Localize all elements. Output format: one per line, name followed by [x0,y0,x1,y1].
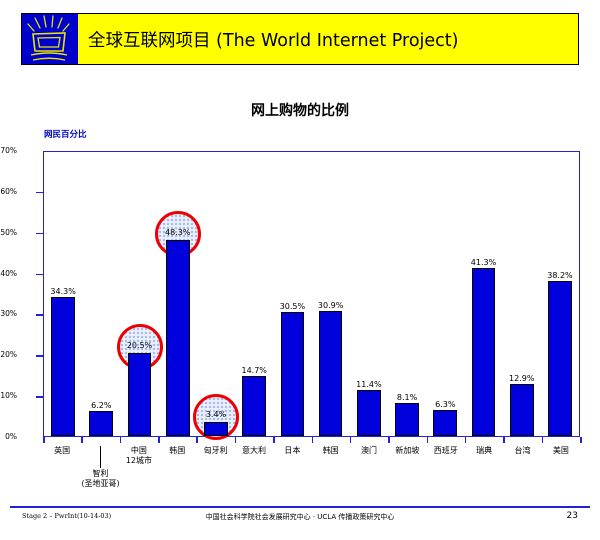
bar-slot: 38.2% [541,152,579,436]
x-axis-category-label: 西班牙 [427,446,465,506]
bar[interactable]: 12.9% [510,384,534,436]
bar-value-label: 30.9% [318,301,343,310]
x-axis-category-label: 新加坡 [388,446,426,506]
bar-slot: 6.2% [82,152,120,436]
y-tick-mark [36,233,43,235]
y-tick-mark [36,396,43,398]
bar-value-label: 48.3% [165,228,190,237]
banner-title: 全球互联网项目 (The World Internet Project) [88,27,458,52]
x-axis-label-line: 韩国 [312,446,350,456]
y-tick-mark [36,274,43,276]
x-axis-label-line: 智利 [81,469,119,479]
y-tick-mark [36,355,43,357]
x-axis-label-line: 美国 [542,446,580,456]
bar-value-label: 11.4% [356,380,381,389]
bar-value-label: 3.4% [206,410,226,419]
x-tick-mark [120,437,122,443]
x-axis-category-label: 意大利 [235,446,273,506]
x-axis-category-label: 匈牙利 [196,446,234,506]
x-axis-label-line: 12城市 [120,456,158,466]
bar[interactable]: 38.2% [548,281,572,436]
bar-series: 34.3%6.2%20.5%48.3%3.4%14.7%30.5%30.9%11… [44,152,579,436]
x-tick-mark [43,437,45,443]
bar-value-label: 8.1% [397,393,417,402]
bar-value-label: 41.3% [471,258,496,267]
x-axis-label-line: 新加坡 [388,446,426,456]
bar[interactable]: 11.4% [357,390,381,436]
y-tick-label: 40% [0,269,17,278]
chart-title: 网上购物的比例 [0,100,600,120]
x-tick-mark [427,437,429,443]
bar-slot: 14.7% [235,152,273,436]
bar-slot: 12.9% [503,152,541,436]
footer-divider [10,506,590,508]
y-tick-label: 0% [5,432,17,441]
x-tick-mark [580,437,582,443]
y-tick-label: 30% [0,309,17,318]
x-axis-category-label: 澳门 [350,446,388,506]
x-axis-category-label: 美国 [542,446,580,506]
x-axis-label-line: (圣地亚哥) [81,479,119,489]
footer-attribution: 中国社会科学院社会发展研究中心 · UCLA 传播政策研究中心 [0,512,600,522]
x-axis-labels: 英国智利(圣地亚哥)中国12城市韩国匈牙利意大利日本韩国澳门新加坡西班牙瑞典台湾… [43,446,580,506]
x-tick-mark [81,437,83,443]
x-axis-category-label: 韩国 [312,446,350,506]
bar-value-label: 6.3% [435,400,455,409]
x-tick-mark [388,437,390,443]
bar-value-label: 12.9% [509,374,534,383]
bar-slot: 34.3% [44,152,82,436]
chart-plot-area: 34.3%6.2%20.5%48.3%3.4%14.7%30.5%30.9%11… [43,151,580,437]
x-tick-mark [196,437,198,443]
x-axis-category-label: 智利(圣地亚哥) [81,446,119,506]
y-tick-label: 10% [0,391,17,400]
x-tick-mark [503,437,505,443]
bar[interactable]: 20.5% [128,353,152,436]
x-axis-category-label: 韩国 [158,446,196,506]
y-tick-label: 50% [0,228,17,237]
bar[interactable]: 3.4% [204,422,228,436]
x-axis-label-line: 西班牙 [427,446,465,456]
monitor-rays-logo-icon [22,14,78,64]
bar[interactable]: 41.3% [472,268,496,436]
bar[interactable]: 8.1% [395,403,419,436]
title-banner: 全球互联网项目 (The World Internet Project) [21,13,579,65]
bar-slot: 11.4% [350,152,388,436]
page-number: 23 [567,511,578,521]
x-tick-mark [312,437,314,443]
bar-slot: 41.3% [464,152,502,436]
y-axis-label: 网民百分比 [44,128,87,140]
bar[interactable]: 6.2% [89,411,113,436]
x-axis-label-line: 澳门 [350,446,388,456]
bar-value-label: 6.2% [91,401,111,410]
bar[interactable]: 30.9% [319,311,343,436]
bar-slot: 30.9% [312,152,350,436]
x-tick-mark [542,437,544,443]
bar-slot: 30.5% [273,152,311,436]
bar[interactable]: 30.5% [281,312,305,436]
x-tick-mark [350,437,352,443]
y-tick-label: 70% [0,146,17,155]
bar[interactable]: 14.7% [242,376,266,436]
x-axis-label-line: 台湾 [503,446,541,456]
x-axis-category-label: 中国12城市 [120,446,158,506]
bar-value-label: 14.7% [241,366,266,375]
bar[interactable]: 48.3% [166,240,190,436]
bar-slot: 20.5% [120,152,158,436]
x-tick-mark [158,437,160,443]
label-leader-line [100,446,101,468]
banner-title-area: 全球互联网项目 (The World Internet Project) [78,14,578,64]
bar[interactable]: 34.3% [51,297,75,436]
x-axis-label-line: 英国 [43,446,81,456]
x-tick-mark [465,437,467,443]
x-tick-mark [273,437,275,443]
bar[interactable]: 6.3% [433,410,457,436]
bar-slot: 3.4% [197,152,235,436]
x-axis-label-line: 韩国 [158,446,196,456]
x-axis-label-line: 中国 [120,446,158,456]
x-axis-label-line: 匈牙利 [196,446,234,456]
bar-slot: 48.3% [159,152,197,436]
y-tick-mark [36,314,43,316]
y-tick-label: 60% [0,187,17,196]
x-axis-label-line: 意大利 [235,446,273,456]
bar-slot: 6.3% [426,152,464,436]
y-tick-mark [36,192,43,194]
x-tick-mark [235,437,237,443]
bar-value-label: 34.3% [50,287,75,296]
x-axis-label-line: 日本 [273,446,311,456]
bar-value-label: 20.5% [127,341,152,350]
x-axis-category-label: 瑞典 [465,446,503,506]
bar-value-label: 38.2% [547,271,572,280]
x-axis-label-line: 瑞典 [465,446,503,456]
bar-slot: 8.1% [388,152,426,436]
bar-value-label: 30.5% [280,302,305,311]
x-axis-category-label: 英国 [43,446,81,506]
y-tick-label: 20% [0,350,17,359]
x-axis-category-label: 台湾 [503,446,541,506]
x-axis-category-label: 日本 [273,446,311,506]
